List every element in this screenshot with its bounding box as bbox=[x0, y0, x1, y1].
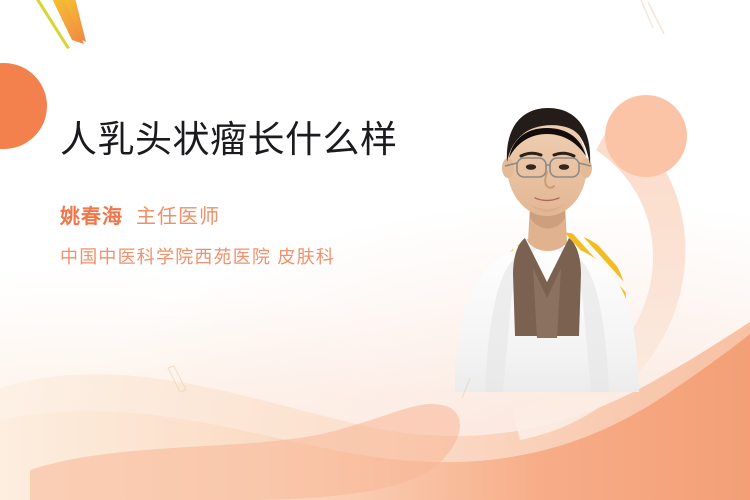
doctor-portrait bbox=[455, 92, 640, 392]
cover-canvas: 人乳头状瘤长什么样 姚春海 主任医师 中国中医科学院西苑医院 皮肤科 bbox=[0, 0, 750, 500]
byline: 姚春海 主任医师 bbox=[60, 200, 440, 229]
doctor-title: 主任医师 bbox=[136, 200, 220, 229]
text-block: 人乳头状瘤长什么样 姚春海 主任医师 中国中医科学院西苑医院 皮肤科 bbox=[60, 118, 440, 269]
doctor-name: 姚春海 bbox=[60, 200, 123, 229]
affiliation: 中国中医科学院西苑医院 皮肤科 bbox=[60, 243, 440, 269]
page-title: 人乳头状瘤长什么样 bbox=[60, 118, 440, 162]
